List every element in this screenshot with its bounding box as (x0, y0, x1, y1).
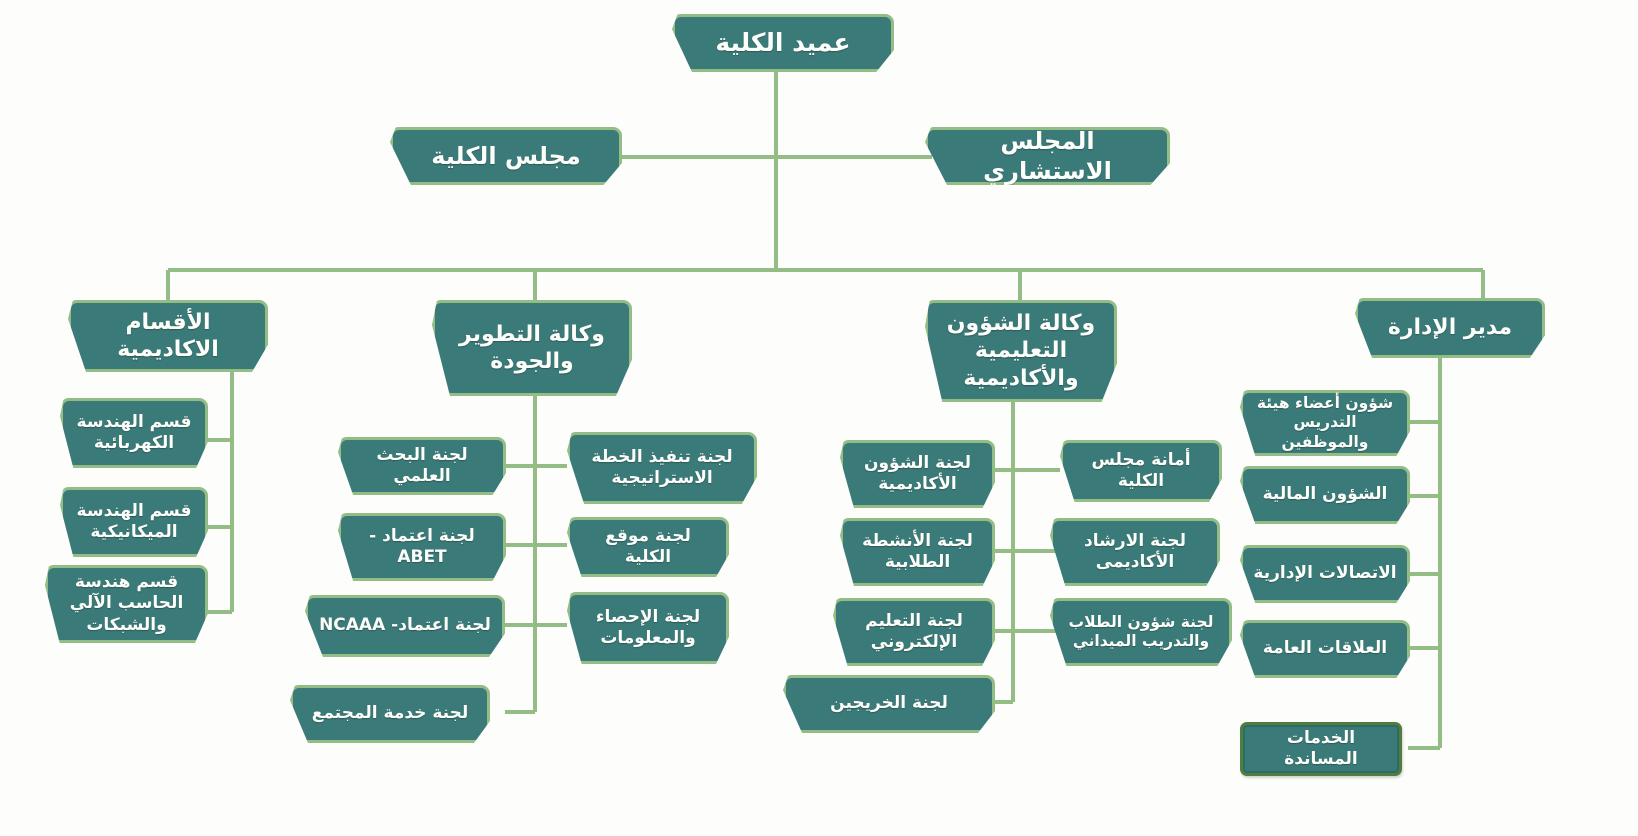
node-public-relations[interactable]: العلاقات العامة (1240, 620, 1410, 678)
node-college-council-secretariat[interactable]: أمانة مجلس الكلية (1060, 440, 1222, 502)
node-label: المجلس الاستشاري (938, 126, 1157, 186)
node-graduates-committee[interactable]: لجنة الخريجين (783, 675, 995, 733)
node-label: لجنة الشؤون الأكاديمية (853, 453, 982, 496)
node-ncaaa-accreditation-committee[interactable]: لجنة اعتماد- NCAAA (305, 595, 505, 657)
node-administrative-communications[interactable]: الاتصالات الإدارية (1240, 545, 1410, 603)
node-label: لجنة التعليم الإلكتروني (846, 611, 982, 654)
node-label: مجلس الكلية (403, 141, 609, 171)
node-strategic-plan-committee[interactable]: لجنة تنفيذ الخطة الاستراتيجية (567, 432, 757, 504)
node-label: لجنة اعتماد- NCAAA (318, 615, 492, 636)
node-label: لجنة اعتماد - ABET (351, 526, 493, 569)
node-label: قسم الهندسة الميكانيكية (73, 501, 195, 544)
node-label: لجنة موقع الكلية (580, 526, 716, 569)
node-label: لجنة الخريجين (796, 693, 982, 714)
node-academic-departments[interactable]: الأقسام الاكاديمية (68, 300, 268, 372)
node-student-affairs-field-training-committee[interactable]: لجنة شؤون الطلاب والتدريب الميداني (1050, 598, 1232, 666)
node-label: لجنة الأنشطة الطلابية (853, 531, 982, 574)
node-electrical-engineering-department[interactable]: قسم الهندسة الكهربائية (60, 398, 208, 468)
node-label: الأقسام الاكاديمية (81, 309, 255, 364)
node-community-service-committee[interactable]: لجنة خدمة المجتمع (290, 685, 490, 743)
node-college-council[interactable]: مجلس الكلية (390, 127, 622, 185)
node-label: لجنة تنفيذ الخطة الاستراتيجية (580, 447, 744, 490)
node-label: الشؤون المالية (1253, 484, 1397, 505)
node-college-website-committee[interactable]: لجنة موقع الكلية (567, 517, 729, 577)
node-label: لجنة خدمة المجتمع (303, 703, 477, 724)
node-dean[interactable]: عميد الكلية (672, 14, 894, 72)
node-elearning-committee[interactable]: لجنة التعليم الإلكتروني (833, 598, 995, 666)
node-label: شؤون أعضاء هيئة التدريس والموظفين (1253, 394, 1397, 452)
node-label: وكالة التطوير والجودة (445, 321, 619, 376)
node-educational-academic-affairs-agency[interactable]: وكالة الشؤون التعليمية والأكاديمية (925, 300, 1117, 402)
node-label: عميد الكلية (685, 27, 881, 58)
node-label: لجنة شؤون الطلاب والتدريب الميداني (1063, 613, 1219, 652)
node-label: لجنة الإحصاء والمعلومات (580, 607, 716, 650)
node-abet-accreditation-committee[interactable]: لجنة اعتماد - ABET (338, 513, 506, 581)
node-scientific-research-committee[interactable]: لجنة البحث العلمي (338, 437, 506, 495)
node-support-services[interactable]: الخدمات المساندة (1240, 722, 1402, 776)
node-label: لجنة البحث العلمي (351, 445, 493, 488)
node-statistics-information-committee[interactable]: لجنة الإحصاء والمعلومات (567, 592, 729, 664)
node-label: الخدمات المساندة (1253, 728, 1389, 771)
node-development-quality-agency[interactable]: وكالة التطوير والجودة (432, 300, 632, 396)
node-administration-director[interactable]: مدير الإدارة (1355, 298, 1545, 358)
node-computer-network-engineering-department[interactable]: قسم هندسة الحاسب الآلي والشبكات (45, 565, 208, 643)
node-label: قسم الهندسة الكهربائية (73, 412, 195, 455)
node-label: الاتصالات الإدارية (1253, 563, 1397, 584)
node-label: مدير الإدارة (1368, 314, 1532, 342)
node-financial-affairs[interactable]: الشؤون المالية (1240, 466, 1410, 524)
node-label: وكالة الشؤون التعليمية والأكاديمية (938, 310, 1104, 393)
node-academic-advising-committee[interactable]: لجنة الارشاد الأكاديمى (1050, 518, 1220, 586)
node-advisory-council[interactable]: المجلس الاستشاري (925, 127, 1170, 185)
node-label: أمانة مجلس الكلية (1073, 450, 1209, 493)
node-label: العلاقات العامة (1253, 638, 1397, 659)
node-student-activities-committee[interactable]: لجنة الأنشطة الطلابية (840, 518, 995, 586)
node-mechanical-engineering-department[interactable]: قسم الهندسة الميكانيكية (60, 487, 208, 557)
node-academic-affairs-committee[interactable]: لجنة الشؤون الأكاديمية (840, 440, 995, 508)
node-label: قسم هندسة الحاسب الآلي والشبكات (58, 572, 195, 636)
org-chart: عميد الكلية مجلس الكلية المجلس الاستشاري… (0, 0, 1638, 836)
node-label: لجنة الارشاد الأكاديمى (1063, 531, 1207, 574)
node-faculty-staff-affairs[interactable]: شؤون أعضاء هيئة التدريس والموظفين (1240, 390, 1410, 456)
